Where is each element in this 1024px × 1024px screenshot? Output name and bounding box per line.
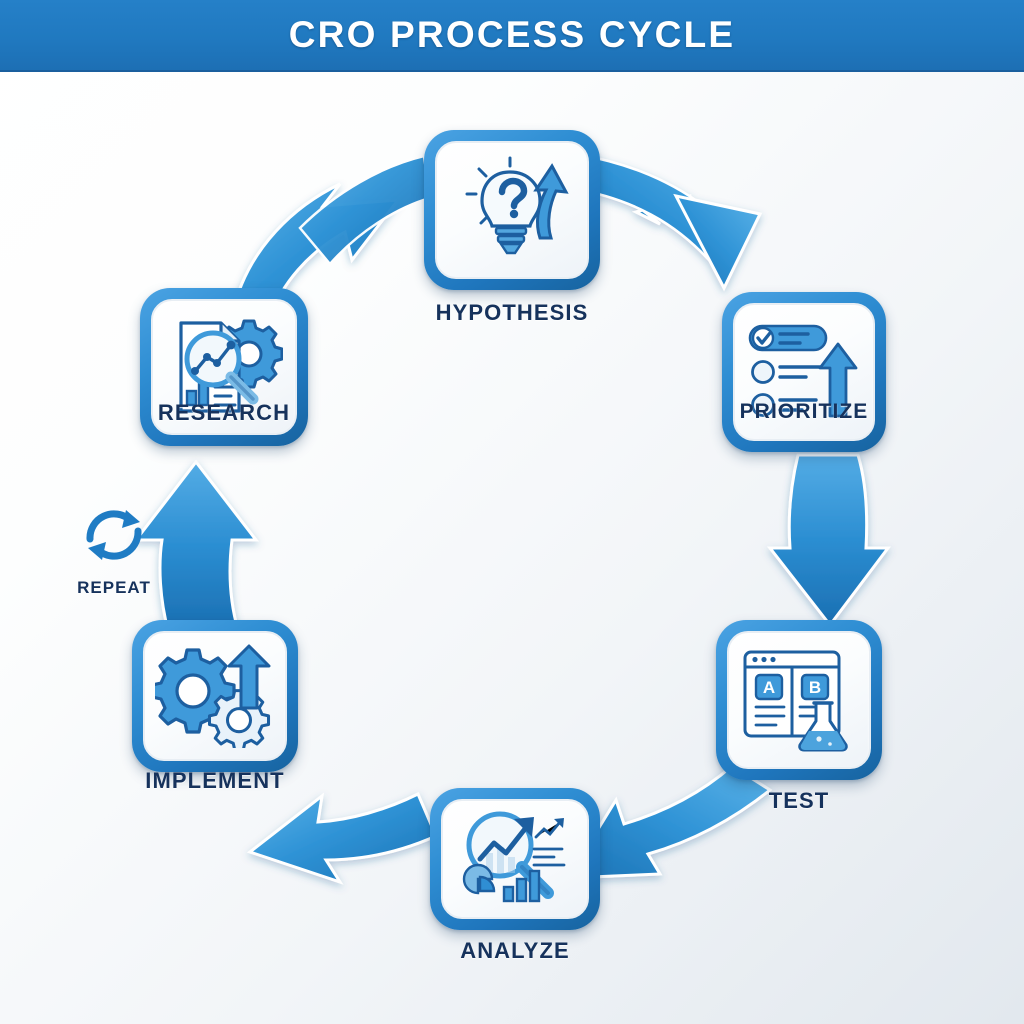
- arrow-prioritize-to-test: [770, 455, 888, 625]
- hypothesis-label: HYPOTHESIS: [362, 300, 662, 326]
- test-label: TEST: [649, 788, 949, 814]
- node-analyze[interactable]: ANALYZE: [430, 788, 600, 930]
- gears-arrow-icon: [155, 644, 275, 748]
- prioritize-card[interactable]: [722, 292, 886, 452]
- arrow-analyze-to-implement: [250, 794, 436, 882]
- research-label: RESEARCH: [74, 400, 374, 426]
- refresh-cycle-icon: [76, 500, 152, 570]
- lightbulb-question-arrow-icon: [452, 154, 572, 266]
- repeat-label: REPEAT: [44, 578, 184, 598]
- node-hypothesis[interactable]: HYPOTHESIS: [424, 130, 600, 290]
- test-card-inner: A B: [727, 631, 871, 769]
- test-variant-b-text: B: [809, 678, 821, 697]
- test-card[interactable]: A B: [716, 620, 882, 780]
- node-implement[interactable]: IMPLEMENT: [132, 620, 298, 772]
- arrow-research-to-hypothesis-tail: [300, 156, 430, 264]
- analyze-card[interactable]: [430, 788, 600, 930]
- hypothesis-card[interactable]: [424, 130, 600, 290]
- implement-card[interactable]: [132, 620, 298, 772]
- arrow-hypothesis-to-prioritize: [590, 158, 760, 288]
- test-variant-a-text: A: [763, 678, 775, 697]
- node-test[interactable]: A B TEST: [716, 620, 882, 780]
- magnifier-chart-icon: [456, 807, 574, 911]
- analyze-card-inner: [441, 799, 589, 919]
- implement-card-inner: [143, 631, 287, 761]
- hypothesis-card-inner: [435, 141, 589, 279]
- node-research[interactable]: RESEARCH: [140, 288, 308, 446]
- analyze-label: ANALYZE: [365, 938, 665, 964]
- prioritize-label: PRIORITIZE: [654, 400, 954, 424]
- repeat-badge: REPEAT: [44, 500, 184, 598]
- ab-test-flask-icon: A B: [740, 647, 858, 753]
- diagram-canvas: CRO PROCESS CYCLE: [0, 0, 1024, 1024]
- node-prioritize[interactable]: PRIORITIZE: [722, 292, 886, 452]
- implement-label: IMPLEMENT: [65, 768, 365, 794]
